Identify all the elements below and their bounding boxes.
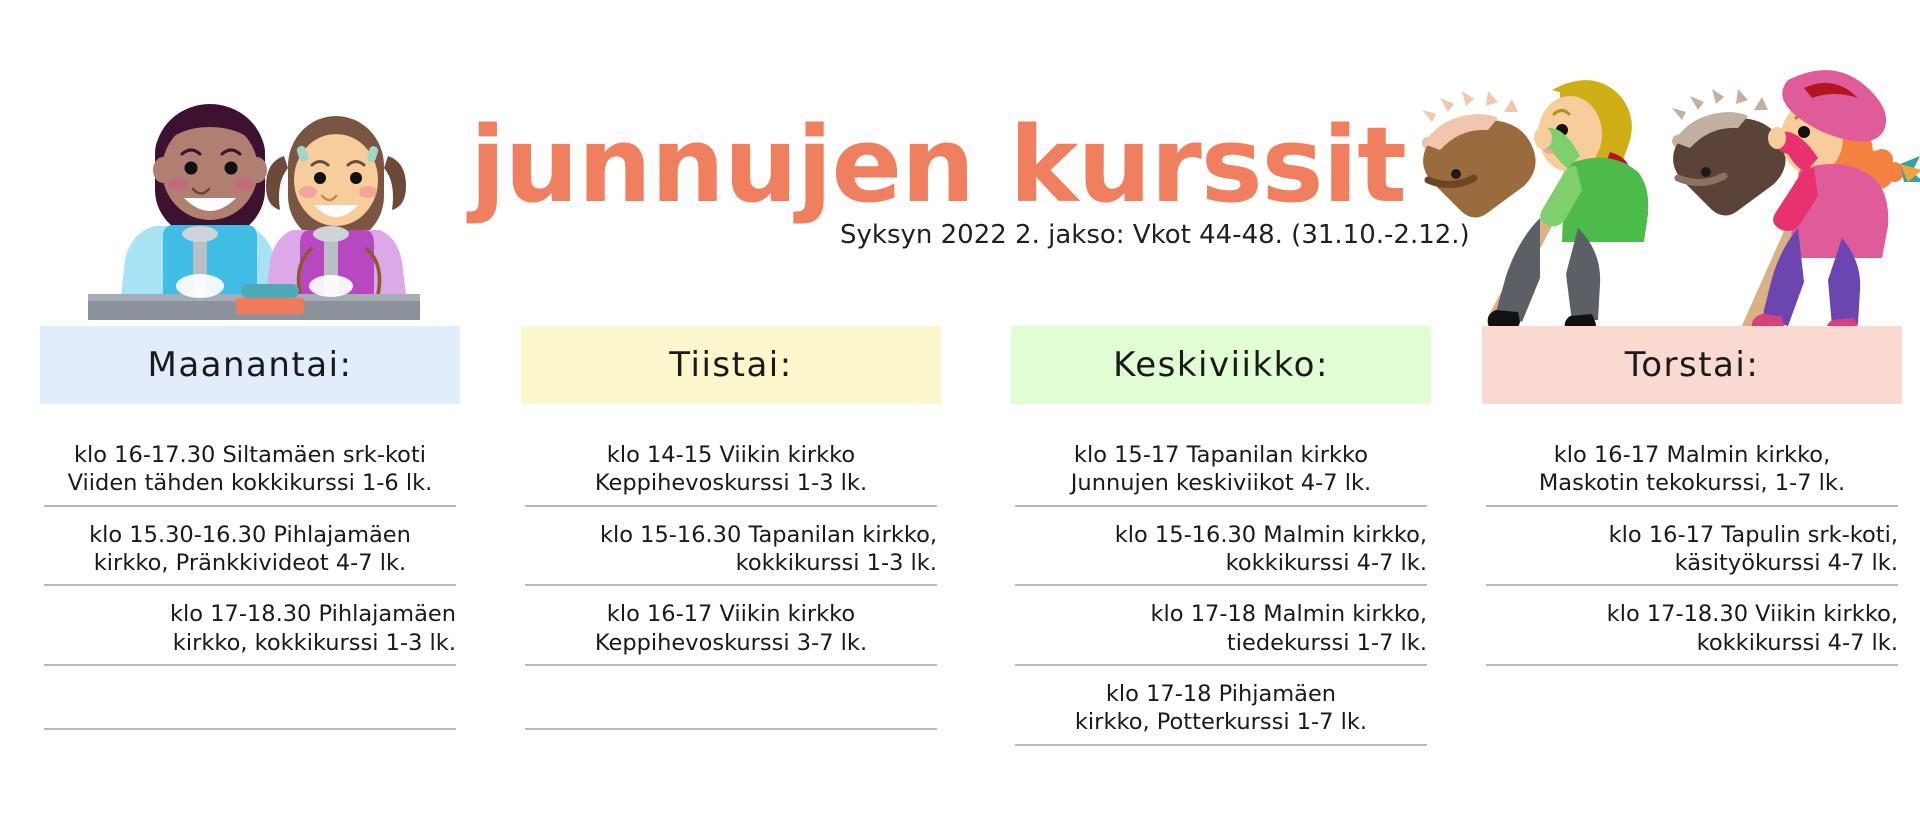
schedule-item[interactable]: klo 17-18 Pihjamäen kirkko, Potterkurssi… xyxy=(1015,677,1427,746)
schedule-item-line: klo 16-17 Malmin kirkko, xyxy=(1486,441,1898,469)
day-header-label: Torstai: xyxy=(1625,345,1760,385)
schedule-item[interactable]: klo 16-17.30 Siltamäen srk-koti Viiden t… xyxy=(44,438,456,507)
schedule-item-line: klo 15-17 Tapanilan kirkko xyxy=(1015,441,1427,469)
day-items-tiistai: klo 14-15 Viikin kirkko Keppihevoskurssi… xyxy=(521,438,941,730)
schedule-item-line: Junnujen keskiviikot 4-7 lk. xyxy=(1015,469,1427,497)
day-header-torstai: Torstai: xyxy=(1482,326,1902,404)
schedule-item-line: Keppihevoskurssi 1-3 lk. xyxy=(525,469,937,497)
day-header-keskiviikko: Keskiviikko: xyxy=(1011,326,1431,404)
kids-washing-hands-illustration xyxy=(60,58,440,330)
schedule-item-line: klo 16-17.30 Siltamäen srk-koti xyxy=(44,441,456,469)
schedule-item-line: klo 15-16.30 Malmin kirkko, xyxy=(1015,521,1427,549)
day-header-tiistai: Tiistai: xyxy=(521,326,941,404)
poster-subtitle: Syksyn 2022 2. jakso: Vkot 44-48. (31.10… xyxy=(840,220,1460,251)
column-trailing-rule xyxy=(525,728,937,730)
schedule-item[interactable]: klo 16-17 Malmin kirkko, Maskotin tekoku… xyxy=(1486,438,1898,507)
page-title: junnujen kurssit xyxy=(470,118,1460,214)
poster-header: junnujen kurssit Syksyn 2022 2. jakso: V… xyxy=(0,0,1920,330)
schedule-item-line: klo 15.30-16.30 Pihlajamäen xyxy=(44,521,456,549)
schedule-item-line: kirkko, Pränkkivideot 4-7 lk. xyxy=(44,549,456,577)
schedule-item-line: klo 17-18.30 Pihlajamäen xyxy=(44,600,456,628)
kids-hobby-horse-illustration xyxy=(1400,52,1920,330)
schedule-item[interactable]: klo 15-16.30 Tapanilan kirkko, kokkikurs… xyxy=(525,518,937,587)
schedule-item-line: tiedekurssi 1-7 lk. xyxy=(1015,629,1427,657)
day-items-keskiviikko: klo 15-17 Tapanilan kirkko Junnujen kesk… xyxy=(1011,438,1431,746)
day-items-torstai: klo 16-17 Malmin kirkko, Maskotin tekoku… xyxy=(1482,438,1902,666)
schedule-item-line: klo 15-16.30 Tapanilan kirkko, xyxy=(525,521,937,549)
schedule-item-line: kokkikurssi 4-7 lk. xyxy=(1486,629,1898,657)
schedule-item[interactable]: klo 17-18 Malmin kirkko, tiedekurssi 1-7… xyxy=(1015,597,1427,666)
schedule-item-line: klo 14-15 Viikin kirkko xyxy=(525,441,937,469)
day-header-label: Maanantai: xyxy=(147,345,352,385)
day-column-torstai: Torstai: klo 16-17 Malmin kirkko, Maskot… xyxy=(1482,326,1902,677)
schedule-item-line: kokkikurssi 4-7 lk. xyxy=(1015,549,1427,577)
schedule-item-line: klo 16-17 Tapulin srk-koti, xyxy=(1486,521,1898,549)
schedule-item-line: kokkikurssi 1-3 lk. xyxy=(525,549,937,577)
schedule-item[interactable]: klo 16-17 Viikin kirkko Keppihevoskurssi… xyxy=(525,597,937,666)
schedule-item[interactable]: klo 15-16.30 Malmin kirkko, kokkikurssi … xyxy=(1015,518,1427,587)
schedule-item-line: Viiden tähden kokkikurssi 1-6 lk. xyxy=(44,469,456,497)
day-items-maanantai: klo 16-17.30 Siltamäen srk-koti Viiden t… xyxy=(40,438,460,730)
day-column-maanantai: Maanantai: klo 16-17.30 Siltamäen srk-ko… xyxy=(40,326,460,730)
schedule-item[interactable]: klo 17-18.30 Pihlajamäen kirkko, kokkiku… xyxy=(44,597,456,666)
schedule-item[interactable]: klo 17-18.30 Viikin kirkko, kokkikurssi … xyxy=(1486,597,1898,666)
column-trailing-rule xyxy=(44,728,456,730)
schedule-item-line: klo 17-18 Malmin kirkko, xyxy=(1015,600,1427,628)
schedule-item-line: klo 16-17 Viikin kirkko xyxy=(525,600,937,628)
schedule-item-line: kirkko, kokkikurssi 1-3 lk. xyxy=(44,629,456,657)
schedule-item-line: käsityökurssi 4-7 lk. xyxy=(1486,549,1898,577)
schedule-item-line: klo 17-18.30 Viikin kirkko, xyxy=(1486,600,1898,628)
schedule-item[interactable]: klo 15.30-16.30 Pihlajamäen kirkko, Prän… xyxy=(44,518,456,587)
schedule-item-line: kirkko, Potterkurssi 1-7 lk. xyxy=(1015,708,1427,736)
title-block: junnujen kurssit Syksyn 2022 2. jakso: V… xyxy=(470,118,1460,251)
schedule-item-line: klo 17-18 Pihjamäen xyxy=(1015,680,1427,708)
schedule-item-line: Maskotin tekokurssi, 1-7 lk. xyxy=(1486,469,1898,497)
day-header-maanantai: Maanantai: xyxy=(40,326,460,404)
schedule-item[interactable]: klo 16-17 Tapulin srk-koti, käsityökurss… xyxy=(1486,518,1898,587)
schedule-item[interactable]: klo 14-15 Viikin kirkko Keppihevoskurssi… xyxy=(525,438,937,507)
day-header-label: Tiistai: xyxy=(669,345,792,385)
day-column-keskiviikko: Keskiviikko: klo 15-17 Tapanilan kirkko … xyxy=(1011,326,1431,757)
schedule-item[interactable]: klo 15-17 Tapanilan kirkko Junnujen kesk… xyxy=(1015,438,1427,507)
day-column-tiistai: Tiistai: klo 14-15 Viikin kirkko Keppihe… xyxy=(521,326,941,730)
schedule-item-line: Keppihevoskurssi 3-7 lk. xyxy=(525,629,937,657)
schedule-columns: Maanantai: klo 16-17.30 Siltamäen srk-ko… xyxy=(0,326,1920,822)
day-header-label: Keskiviikko: xyxy=(1113,345,1329,385)
